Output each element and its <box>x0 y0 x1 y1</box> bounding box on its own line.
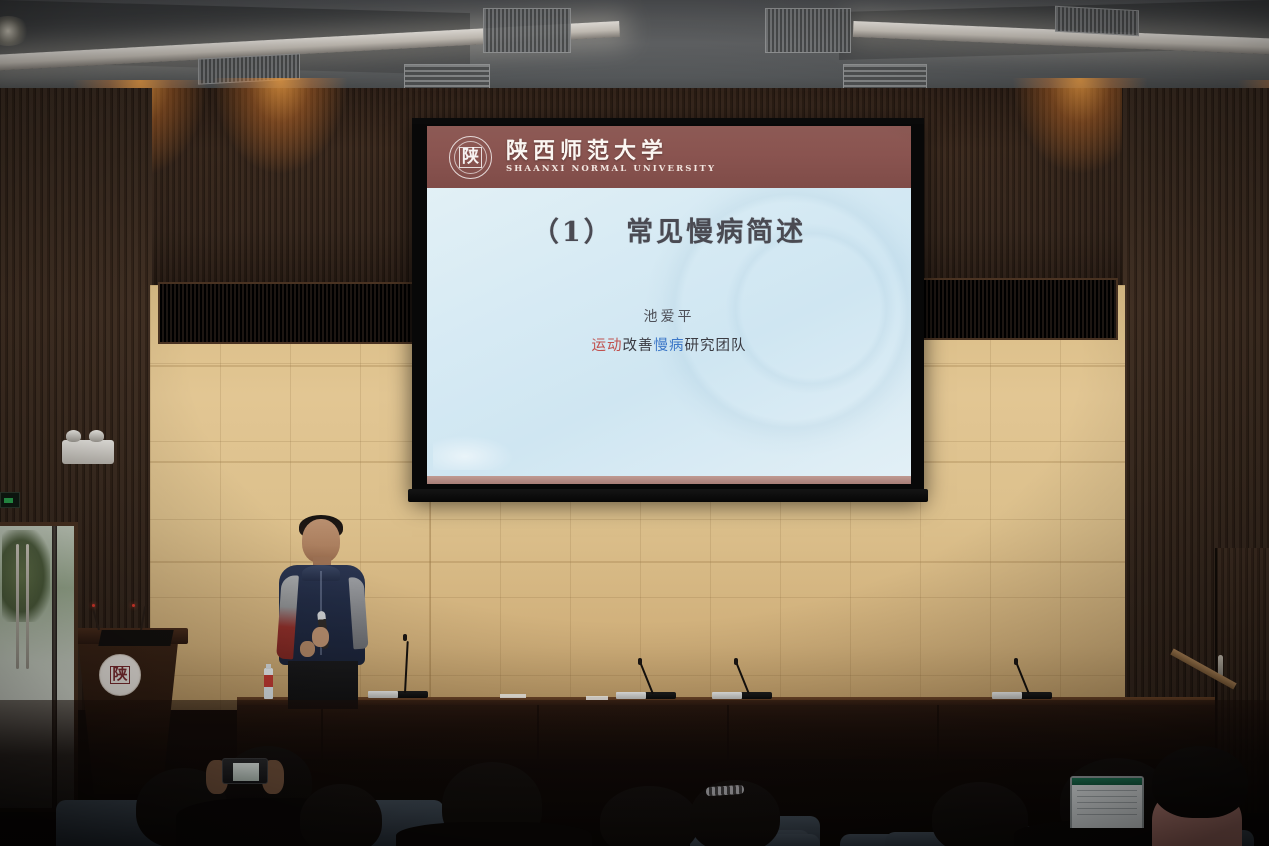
university-name-block: 陕西师范大学 SHAANXI NORMAL UNIVERSITY <box>506 140 716 175</box>
university-name-cn: 陕西师范大学 <box>506 140 716 164</box>
mic-plate <box>992 692 1022 699</box>
mic-plate <box>616 692 646 699</box>
table-microphone-2 <box>640 655 680 699</box>
projection-screen: 陕 陕西师范大学 SHAANXI NORMAL UNIVERSITY （1） 常… <box>412 118 924 498</box>
exit-sign <box>0 492 20 508</box>
slide-team-line: 运动改善慢病研究团队 <box>427 334 911 355</box>
team-text-part4: 研究团队 <box>685 338 747 354</box>
audience-shoulders-4 <box>396 822 592 846</box>
laptop-titlebar <box>1072 778 1142 785</box>
mic-capsule <box>403 634 407 641</box>
podium-monitor <box>98 630 173 646</box>
table-microphone-4 <box>1016 655 1056 699</box>
slide-glare-smudge <box>433 436 513 470</box>
presenter-hand-right <box>312 627 329 647</box>
hvac-vent-2 <box>483 8 571 53</box>
mic-capsule <box>734 658 738 665</box>
seal-character: 陕 <box>459 147 482 168</box>
screen-bottom-bar <box>408 489 928 502</box>
mic-gooseneck <box>404 641 409 693</box>
podium-led-1 <box>132 604 135 607</box>
acoustic-panel-left <box>158 282 414 344</box>
presenter <box>272 515 372 705</box>
slide-author: 池爱平 <box>427 306 911 326</box>
door-handle-2[interactable] <box>26 544 29 669</box>
table-microphone-3 <box>736 655 776 699</box>
door-handle-1[interactable] <box>16 544 19 669</box>
hvac-vent-3 <box>765 8 851 53</box>
screen-top-bar <box>412 118 924 124</box>
team-text-part3: 慢病 <box>654 338 685 354</box>
slide-footer-band <box>427 476 911 484</box>
team-text-part1: 运动 <box>592 338 623 354</box>
mic-gooseneck <box>639 660 654 694</box>
presentation-slide: 陕 陕西师范大学 SHAANXI NORMAL UNIVERSITY （1） 常… <box>427 126 911 484</box>
hvac-vent-1 <box>198 53 300 84</box>
mic-plate <box>368 691 398 698</box>
slide-header-band: 陕 陕西师范大学 SHAANXI NORMAL UNIVERSITY <box>427 126 911 188</box>
mic-gooseneck <box>735 660 750 694</box>
laptop-content-lines <box>1077 790 1137 820</box>
university-name-en: SHAANXI NORMAL UNIVERSITY <box>506 164 716 174</box>
mic-plate <box>712 692 742 699</box>
mic-gooseneck <box>1015 660 1030 694</box>
podium-seal-character: 陕 <box>110 666 129 684</box>
acoustic-panel-right <box>922 278 1118 340</box>
audience-head-3 <box>300 784 382 846</box>
team-text-part2: 改善 <box>623 338 654 354</box>
audience-head-9 <box>1152 746 1248 818</box>
podium-led-2 <box>92 604 95 607</box>
audience-laptop <box>1070 776 1144 828</box>
university-seal-icon: 陕 <box>449 136 492 179</box>
table-paper-1 <box>500 694 526 698</box>
mic-capsule <box>1014 658 1018 665</box>
wall-sconce-wash-2 <box>205 78 355 238</box>
table-microphone-1 <box>392 636 432 698</box>
lecture-hall-scene: 陕 陕西师范大学 SHAANXI NORMAL UNIVERSITY （1） 常… <box>0 0 1269 846</box>
mic-capsule <box>638 658 642 665</box>
phone-screen <box>233 763 259 781</box>
audience-phone-camera <box>222 758 268 784</box>
slide-title: （1） 常见慢病简述 <box>427 210 911 249</box>
hvac-vent-4 <box>1055 6 1139 36</box>
emergency-light <box>62 440 114 464</box>
podium-seal-icon: 陕 <box>99 654 141 696</box>
presenter-hand-left <box>300 641 315 657</box>
